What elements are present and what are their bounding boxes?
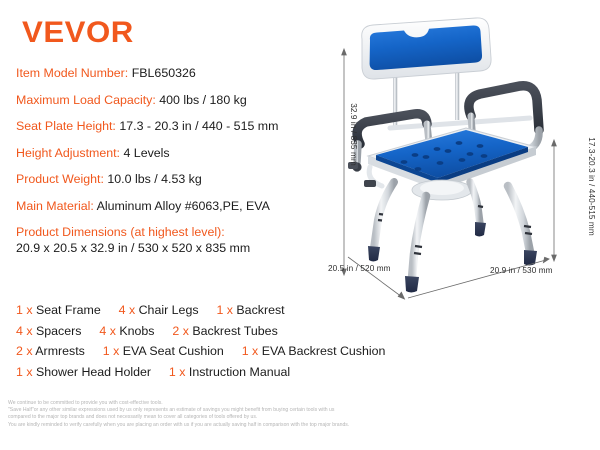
- spec-value: 10.0 lbs / 4.53 kg: [107, 172, 201, 186]
- part-name: EVA Backrest Cushion: [262, 344, 386, 358]
- spec-row: Seat Plate Height: 17.3 - 20.3 in / 440 …: [16, 119, 346, 133]
- rubber-feet: [368, 222, 537, 293]
- spec-value: 4 Levels: [123, 146, 169, 160]
- spec-row: Main Material: Aluminum Alloy #6063,PE, …: [16, 199, 346, 213]
- spec-row: Maximum Load Capacity: 400 lbs / 180 kg: [16, 93, 346, 107]
- specifications-list: Item Model Number: FBL650326 Maximum Loa…: [16, 66, 346, 264]
- disclaimer-line: "Save Half"or any other similar expressi…: [8, 407, 596, 414]
- dimension-seat-height: 17.3-20.3 in / 440-515 mm: [587, 137, 596, 236]
- spec-row: Item Model Number: FBL650326: [16, 66, 346, 80]
- part-name: EVA Seat Cushion: [123, 344, 224, 358]
- part-qty: 1 x: [16, 303, 33, 317]
- part-name: Armrests: [35, 344, 85, 358]
- part-qty: 4 x: [16, 324, 33, 338]
- spec-value: 400 lbs / 180 kg: [159, 93, 247, 107]
- legal-disclaimer: We continue to be committed to provide y…: [8, 400, 596, 429]
- part-name: Backrest Tubes: [192, 324, 277, 338]
- list-item: 1 x Shower Head Holder 1 x Instruction M…: [16, 362, 436, 383]
- spec-label: Main Material:: [16, 199, 94, 213]
- seat-frame-rear: [390, 118, 530, 128]
- part-qty: 1 x: [216, 303, 233, 317]
- spec-label: Height Adjustment:: [16, 146, 120, 160]
- package-contents-list: 1 x Seat Frame 4 x Chair Legs 1 x Backre…: [16, 300, 436, 382]
- part-name: Spacers: [36, 324, 81, 338]
- spec-row: Product Weight: 10.0 lbs / 4.53 kg: [16, 172, 346, 186]
- spec-label: Item Model Number:: [16, 66, 128, 80]
- shower-chair-illustration: [330, 10, 600, 305]
- disclaimer-line: You are kindly reminded to verify carefu…: [8, 422, 596, 429]
- product-image-with-dimensions: 32.9 in / 835 mm 17.3-20.3 in / 440-515 …: [330, 10, 600, 305]
- spec-label: Maximum Load Capacity:: [16, 93, 156, 107]
- leg-adjustment-rings: [378, 206, 532, 254]
- part-qty: 1 x: [16, 365, 33, 379]
- part-name: Seat Frame: [36, 303, 101, 317]
- spec-value: FBL650326: [132, 66, 196, 80]
- part-qty: 1 x: [242, 344, 259, 358]
- knob: [364, 180, 376, 187]
- part-qty: 1 x: [103, 344, 120, 358]
- vevor-logo: VEVOR: [22, 18, 134, 48]
- part-qty: 4 x: [119, 303, 136, 317]
- part-name: Knobs: [119, 324, 154, 338]
- part-qty: 1 x: [169, 365, 186, 379]
- spec-row: Height Adjustment: 4 Levels: [16, 146, 346, 160]
- part-name: Chair Legs: [139, 303, 199, 317]
- spec-value: 17.3 - 20.3 in / 440 - 515 mm: [119, 119, 278, 133]
- spec-row-dimensions: Product Dimensions (at highest level): 2…: [16, 225, 346, 255]
- spec-value: 20.9 x 20.5 x 32.9 in / 530 x 520 x 835 …: [16, 241, 346, 255]
- part-qty: 2 x: [16, 344, 33, 358]
- part-name: Shower Head Holder: [36, 365, 151, 379]
- spec-value: Aluminum Alloy #6063,PE, EVA: [97, 199, 270, 213]
- dimension-depth: 20.5 in / 520 mm: [328, 264, 391, 273]
- backrest: [362, 18, 491, 79]
- part-qty: 2 x: [172, 324, 189, 338]
- disclaimer-line: compared to the major top brands and doe…: [8, 414, 596, 421]
- disclaimer-line: We continue to be committed to provide y…: [8, 400, 596, 407]
- dimension-height: 32.9 in / 835 mm: [349, 103, 358, 166]
- part-name: Instruction Manual: [189, 365, 290, 379]
- spec-label: Product Weight:: [16, 172, 104, 186]
- list-item: 2 x Armrests 1 x EVA Seat Cushion 1 x EV…: [16, 341, 436, 362]
- dimension-width: 20.9 in / 530 mm: [490, 266, 553, 275]
- product-spec-sheet: VEVOR Item Model Number: FBL650326 Maxim…: [0, 0, 600, 450]
- spec-label: Seat Plate Height:: [16, 119, 116, 133]
- part-name: Backrest: [236, 303, 284, 317]
- part-qty: 4 x: [99, 324, 116, 338]
- spec-label: Product Dimensions (at highest level):: [16, 225, 225, 239]
- list-item: 4 x Spacers 4 x Knobs 2 x Backrest Tubes: [16, 321, 436, 342]
